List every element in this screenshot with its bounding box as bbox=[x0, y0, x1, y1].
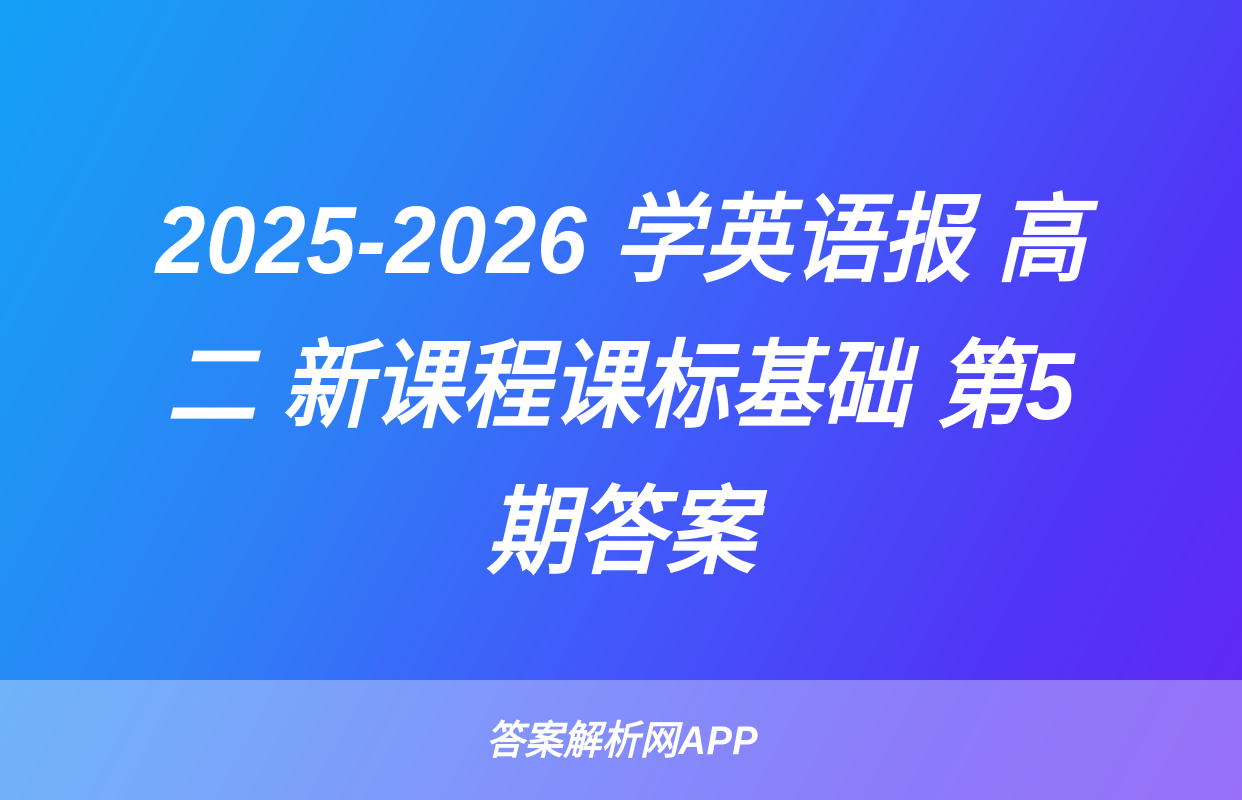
title-line-1: 2025-2026 学英语报 高 bbox=[71, 168, 1170, 314]
title-line-3: 期答案 bbox=[71, 460, 1170, 606]
app-watermark-label: 答案解析网APP bbox=[487, 721, 759, 761]
answer-poster: 2025-2026 学英语报 高 二 新课程课标基础 第5 期答案 答案解析网A… bbox=[0, 0, 1242, 800]
title-line-2: 二 新课程课标基础 第5 bbox=[71, 314, 1170, 460]
footer-band-inner: 答案解析网APP bbox=[3, 682, 1242, 800]
footer-watermark-band: 答案解析网APP bbox=[0, 680, 1242, 800]
poster-title-block: 2025-2026 学英语报 高 二 新课程课标基础 第5 期答案 bbox=[0, 168, 1242, 638]
